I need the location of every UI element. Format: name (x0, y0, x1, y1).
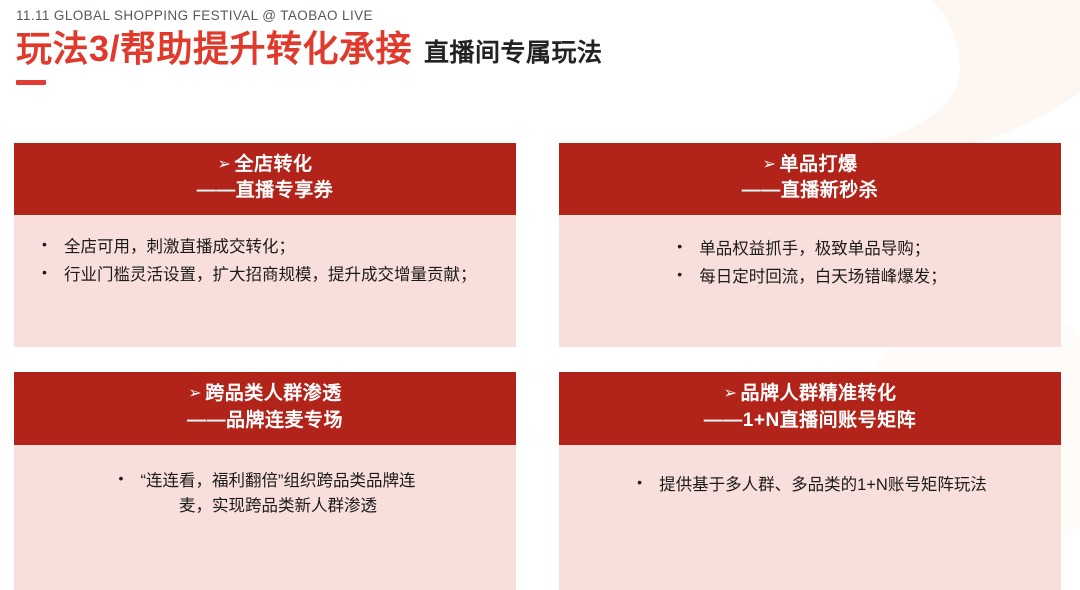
page-title: 玩法3/帮助提升转化承接 (16, 28, 412, 69)
page-header: 11.11 GLOBAL SHOPPING FESTIVAL @ TAOBAO … (16, 8, 603, 85)
card-header: ➢单品打爆 ——直播新秒杀 (559, 143, 1061, 215)
list-item-line1: “连连看，福利翻倍”组织跨品类品牌连 (141, 472, 416, 490)
list-item: 行业门槛灵活设置，扩大招商规模，提升成交增量贡献； (38, 263, 492, 288)
card-heading-line2: ——直播专享券 (24, 178, 506, 204)
card-header: ➢全店转化 ——直播专享券 (14, 143, 516, 215)
list-item: 全店可用，刺激直播成交转化； (38, 235, 492, 260)
bullet-list: 全店可用，刺激直播成交转化； 行业门槛灵活设置，扩大招商规模，提升成交增量贡献； (38, 235, 492, 289)
arrow-icon: ➢ (188, 385, 202, 402)
card-header: ➢跨品类人群渗透 ——品牌连麦专场 (14, 372, 516, 444)
title-row: 玩法3/帮助提升转化承接 直播间专属玩法 (16, 28, 603, 69)
decor-blob-white (660, 0, 960, 150)
list-item: 每日定时回流，白天场错峰爆发； (673, 265, 947, 290)
card-header: ➢品牌人群精准转化 ——1+N直播间账号矩阵 (559, 372, 1061, 444)
page-subtitle: 直播间专属玩法 (424, 33, 603, 69)
arrow-icon: ➢ (218, 156, 232, 173)
list-item-line2: 麦，实现跨品类新人群渗透 (141, 494, 416, 519)
card-quan-dian-zhuan-hua: ➢全店转化 ——直播专享券 全店可用，刺激直播成交转化； 行业门槛灵活设置，扩大… (14, 143, 516, 347)
card-heading-line1: 全店转化 (234, 154, 312, 175)
card-heading-line1: 跨品类人群渗透 (205, 383, 342, 404)
arrow-icon: ➢ (724, 385, 738, 402)
card-body: 全店可用，刺激直播成交转化； 行业门槛灵活设置，扩大招商规模，提升成交增量贡献； (14, 215, 516, 347)
card-heading-line2: ——直播新秒杀 (569, 178, 1051, 204)
card-kua-pin-lei-ren-qun-shen-tou: ➢跨品类人群渗透 ——品牌连麦专场 “连连看，福利翻倍”组织跨品类品牌连麦，实现… (14, 372, 516, 589)
bullet-list: 提供基于多人群、多品类的1+N账号矩阵玩法 (633, 473, 987, 500)
arrow-icon: ➢ (763, 156, 777, 173)
card-body: “连连看，福利翻倍”组织跨品类品牌连麦，实现跨品类新人群渗透 (14, 445, 516, 590)
card-heading-line1: 单品打爆 (779, 154, 857, 175)
card-dan-pin-da-bao: ➢单品打爆 ——直播新秒杀 单品权益抓手，极致单品导购； 每日定时回流，白天场错… (559, 143, 1061, 347)
list-item: “连连看，福利翻倍”组织跨品类品牌连麦，实现跨品类新人群渗透 (115, 469, 416, 519)
card-heading-line2: ——品牌连麦专场 (24, 408, 506, 434)
card-heading-line1: 品牌人群精准转化 (740, 383, 896, 404)
card-pin-pai-ren-qun-jing-zhun-zhuan-hua: ➢品牌人群精准转化 ——1+N直播间账号矩阵 提供基于多人群、多品类的1+N账号… (559, 372, 1061, 589)
card-body: 单品权益抓手，极致单品导购； 每日定时回流，白天场错峰爆发； (559, 215, 1061, 347)
card-grid: ➢全店转化 ——直播专享券 全店可用，刺激直播成交转化； 行业门槛灵活设置，扩大… (14, 143, 1061, 590)
bullet-list: “连连看，福利翻倍”组织跨品类品牌连麦，实现跨品类新人群渗透 (115, 469, 416, 521)
eyebrow-text: 11.11 GLOBAL SHOPPING FESTIVAL @ TAOBAO … (16, 8, 603, 23)
bullet-list: 单品权益抓手，极致单品导购； 每日定时回流，白天场错峰爆发； (673, 237, 947, 291)
title-underline-rule (16, 80, 46, 85)
card-body: 提供基于多人群、多品类的1+N账号矩阵玩法 (559, 445, 1061, 590)
list-item: 提供基于多人群、多品类的1+N账号矩阵玩法 (633, 473, 987, 498)
list-item: 单品权益抓手，极致单品导购； (673, 237, 947, 262)
card-heading-line2: ——1+N直播间账号矩阵 (569, 408, 1051, 434)
